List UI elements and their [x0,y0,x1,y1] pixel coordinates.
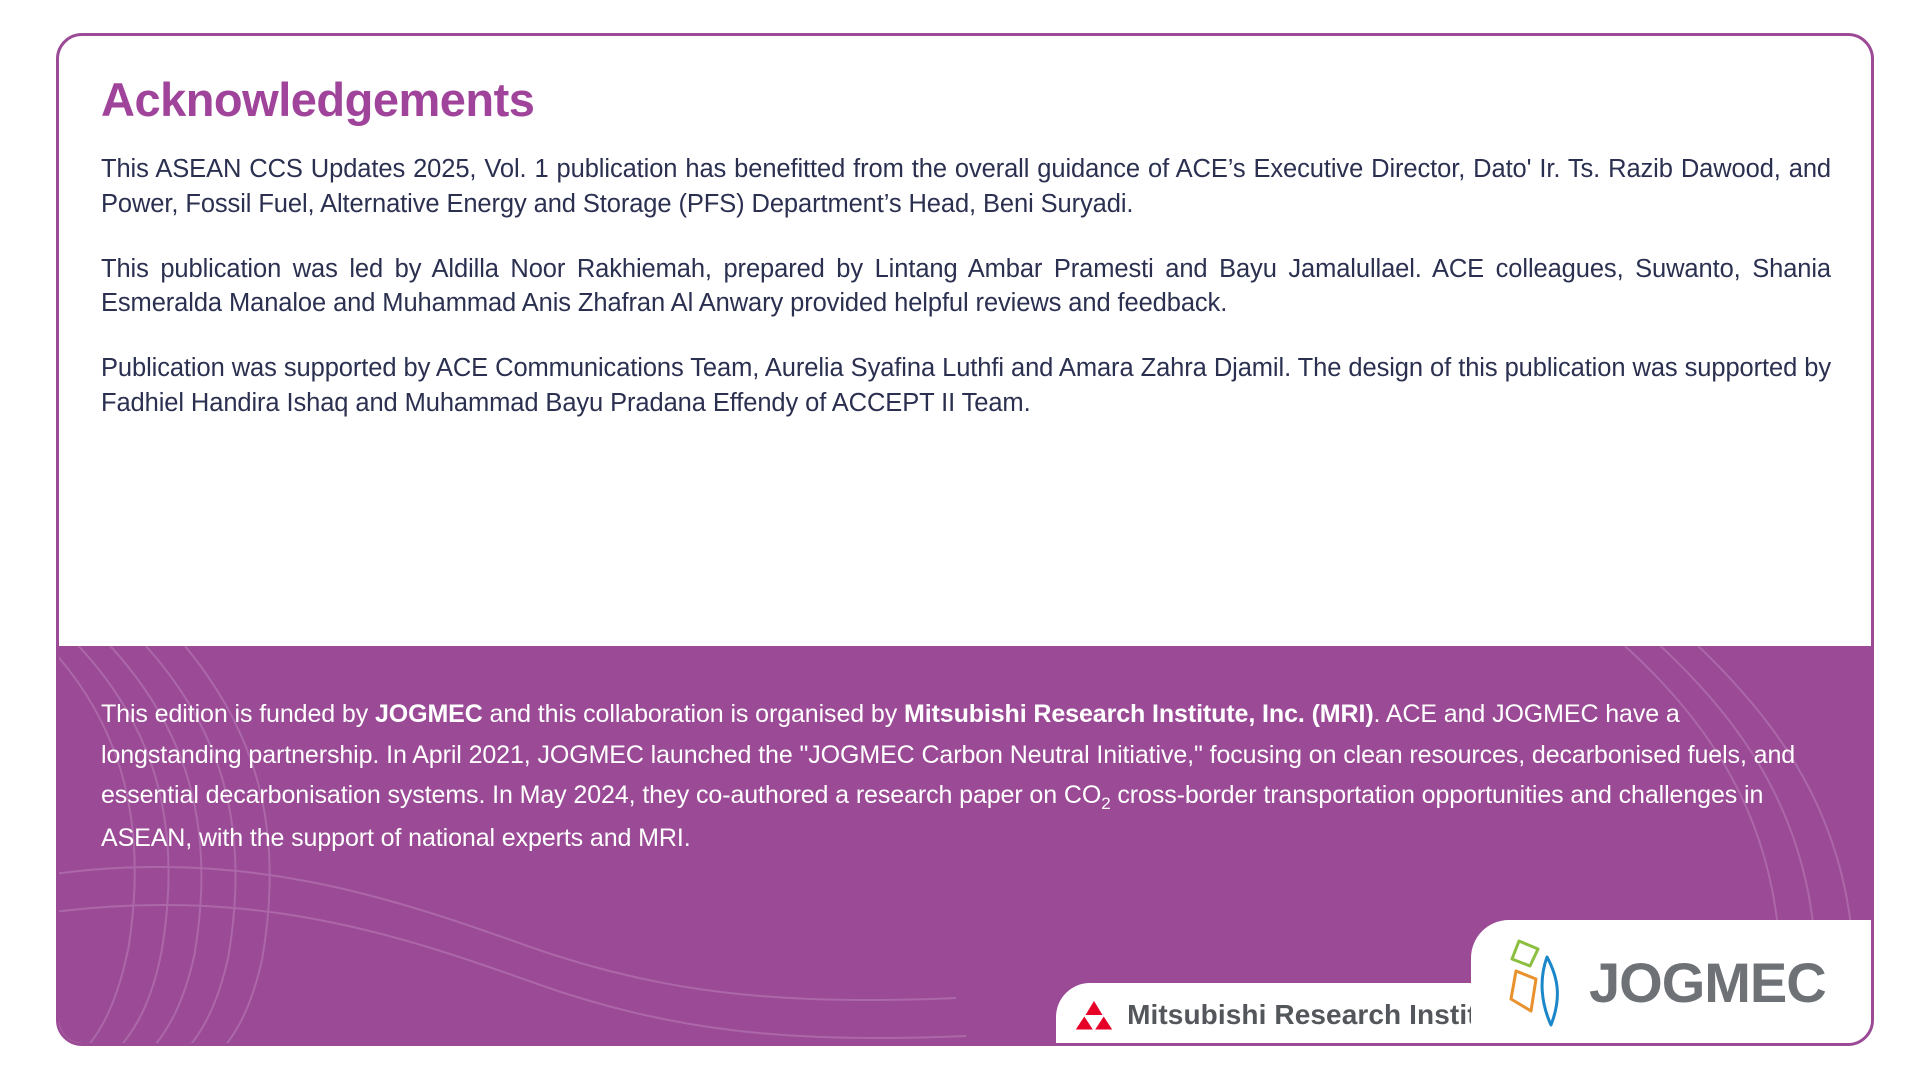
page-root: Acknowledgements This ASEAN CCS Updates … [0,0,1920,1080]
jogmec-mark-icon [1507,937,1569,1029]
acknowledgement-paragraph-1: This ASEAN CCS Updates 2025, Vol. 1 publ… [101,152,1831,222]
funding-statement: This edition is funded by JOGMEC and thi… [59,646,1871,858]
page-title: Acknowledgements [101,74,1831,126]
funding-text-run-1: This edition is funded by [101,700,375,728]
mri-wordmark: Mitsubishi Research Institute [1127,999,1519,1031]
jogmec-wordmark: JOGMEC [1589,955,1826,1011]
acknowledgements-card: Acknowledgements This ASEAN CCS Updates … [56,33,1874,1046]
white-content-region: Acknowledgements This ASEAN CCS Updates … [59,36,1871,421]
acknowledgement-paragraph-2: This publication was led by Aldilla Noor… [101,252,1831,322]
acknowledgement-paragraph-3: Publication was supported by ACE Communi… [101,351,1831,421]
mitsubishi-three-diamond-icon [1075,1000,1113,1030]
jogmec-logo-plate: JOGMEC [1471,920,1871,1046]
funding-text-run-2: and this collaboration is organised by [483,700,904,728]
funding-text-jogmec-bold: JOGMEC [375,700,483,728]
funding-text-mri-bold: Mitsubishi Research Institute, Inc. (MRI… [904,700,1374,728]
mri-logo-plate: Mitsubishi Research Institute [1056,983,1526,1046]
co2-subscript: 2 [1101,794,1110,813]
funding-panel: This edition is funded by JOGMEC and thi… [59,646,1871,1046]
